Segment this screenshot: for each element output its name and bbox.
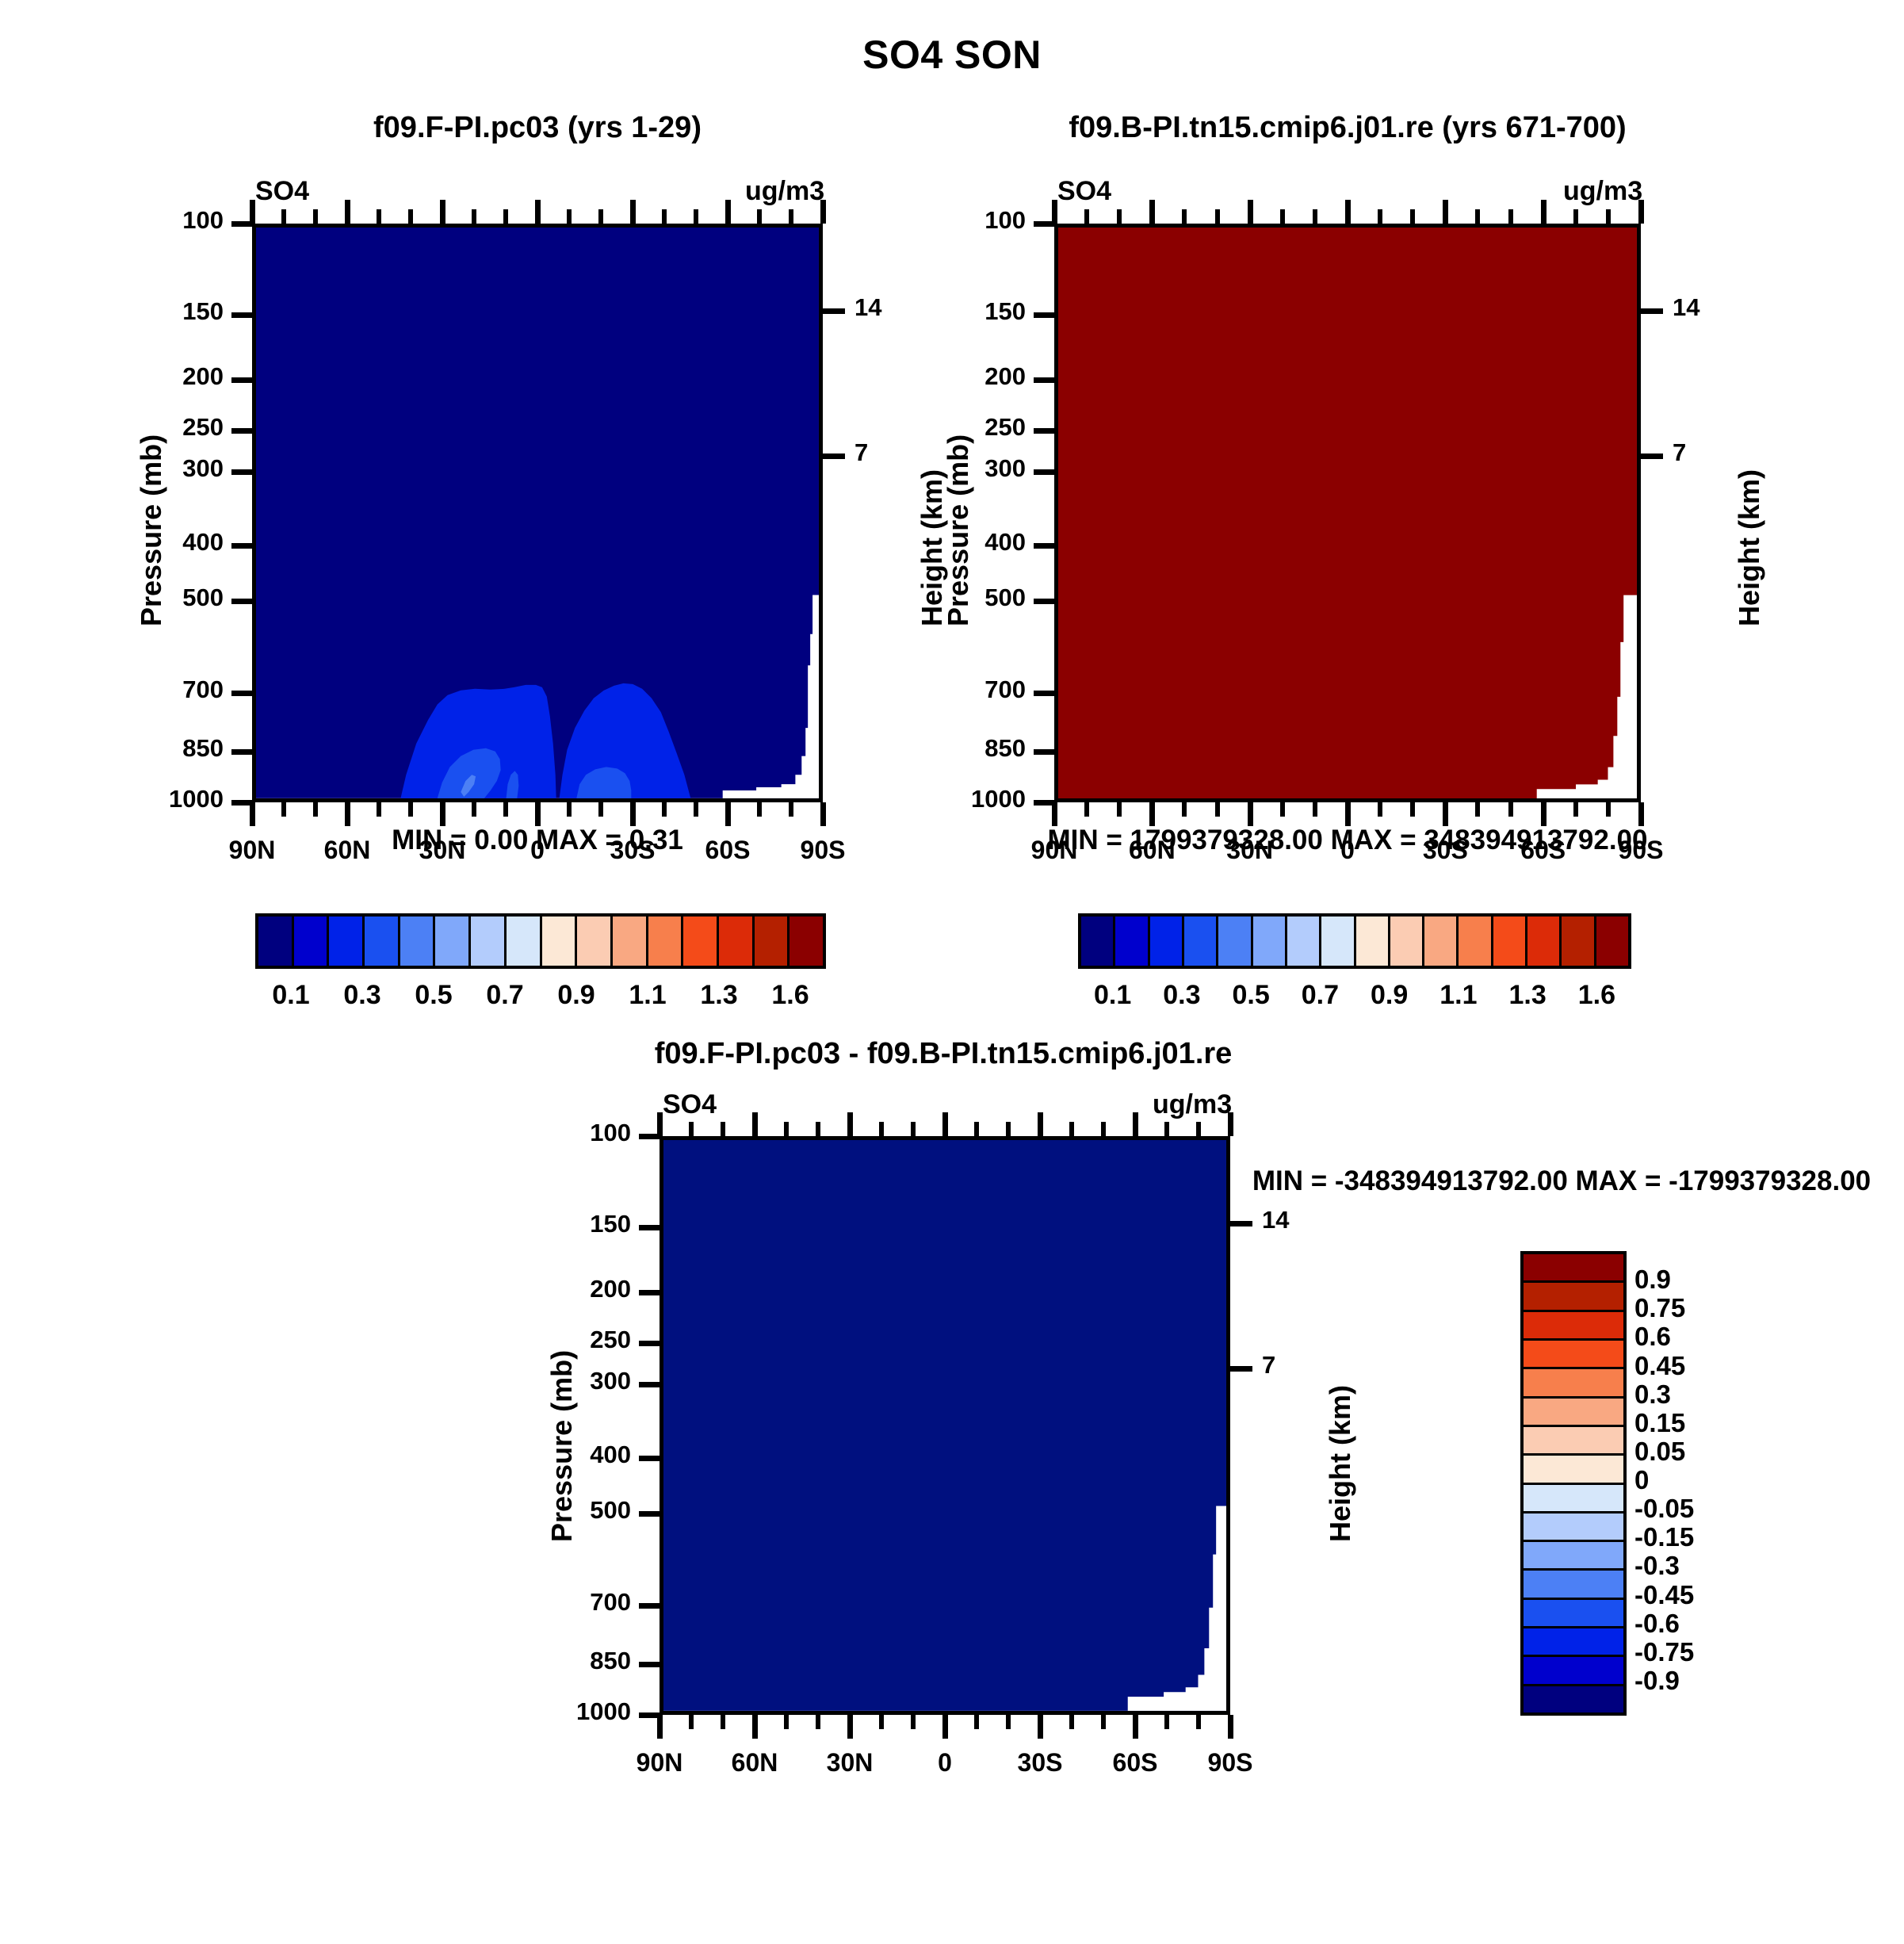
colorbar-tick-label: 0.5 [1232, 980, 1269, 1011]
y-axis-tick-label: 700 [891, 675, 1026, 704]
axis-tick-mark [1034, 543, 1056, 549]
axis-tick-mark [1149, 802, 1155, 826]
axis-tick-mark [1196, 1715, 1201, 1729]
axis-tick-mark [942, 1112, 948, 1136]
axis-tick-mark [816, 1715, 820, 1729]
axis-tick-mark [1084, 209, 1089, 224]
colorbar-swatch [507, 917, 542, 966]
page-title: SO4 SON [0, 32, 1904, 78]
axis-tick-mark [911, 1122, 916, 1136]
axis-tick-mark [535, 200, 541, 224]
y2-axis-tick-label: 7 [1673, 438, 1768, 467]
axis-tick-mark [1034, 428, 1056, 434]
panel-title-top-right: f09.B-PI.tn15.cmip6.j01.re (yrs 671-700) [1023, 111, 1673, 145]
colorbar-swatch [1524, 1427, 1623, 1456]
axis-tick-mark [377, 209, 381, 224]
colorbar-tick-label: 0.9 [1371, 980, 1408, 1011]
y-axis-tick-label: 850 [891, 734, 1026, 763]
axis-tick-mark [408, 802, 413, 817]
y-axis-tick-label: 850 [89, 734, 224, 763]
axis-tick-mark [639, 1511, 661, 1517]
colorbar-swatch [613, 917, 648, 966]
axis-tick-mark [231, 800, 254, 806]
colorbar-tick-label: -0.75 [1634, 1637, 1694, 1667]
axis-tick-mark [567, 209, 572, 224]
colorbar-tick-label: 0.15 [1634, 1408, 1685, 1438]
x-axis-tick-label: 60S [1048, 1748, 1222, 1778]
colorbar-swatch [1524, 1686, 1623, 1712]
colorbar-tick-label: 1.3 [1508, 980, 1546, 1011]
colorbar-tick-label: 0.3 [1163, 980, 1200, 1011]
colorbar-tick-label: -0.9 [1634, 1666, 1680, 1696]
colorbar-swatch [719, 917, 755, 966]
panel-title-top-left: f09.F-PI.pc03 (yrs 1-29) [252, 111, 823, 145]
axis-tick-mark [1006, 1715, 1011, 1729]
axis-tick-mark [1345, 200, 1351, 224]
colorbar-swatch [648, 917, 684, 966]
axis-tick-mark [725, 200, 731, 224]
axis-tick-mark [820, 802, 826, 826]
axis-tick-mark [721, 1122, 725, 1136]
colorbar-swatch [1524, 1657, 1623, 1686]
axis-tick-mark [789, 802, 793, 817]
axis-tick-mark [231, 312, 254, 318]
axis-tick-mark [725, 802, 731, 826]
axis-tick-mark [1164, 1122, 1169, 1136]
axis-tick-mark [345, 802, 350, 826]
axis-tick-mark [789, 209, 793, 224]
axis-tick-mark [1248, 200, 1253, 224]
colorbar-tick-label: 0.75 [1634, 1293, 1685, 1323]
colorbar-tick-label: 0.9 [557, 980, 595, 1011]
plot-area-top-right[interactable] [1054, 224, 1641, 802]
axis-tick-mark [231, 543, 254, 549]
axis-tick-mark [1196, 1122, 1201, 1136]
axis-tick-mark [503, 209, 508, 224]
axis-tick-mark [757, 209, 762, 224]
axis-tick-mark [974, 1715, 979, 1729]
axis-tick-mark [1034, 469, 1056, 475]
colorbar-swatch [1562, 917, 1596, 966]
y-axis-tick-label: 150 [891, 297, 1026, 326]
colorbar-tick-label: 0.3 [1634, 1380, 1671, 1410]
colorbar-swatch [1524, 1283, 1623, 1311]
axis-tick-mark [639, 1712, 661, 1718]
colorbar-swatch [542, 917, 578, 966]
axis-tick-mark [639, 1456, 661, 1461]
axis-tick-mark [689, 1122, 694, 1136]
colorbar-tick-label: 0.9 [1634, 1265, 1671, 1295]
axis-tick-mark [1378, 209, 1382, 224]
axis-tick-mark [250, 200, 255, 224]
axis-tick-mark [1541, 802, 1547, 826]
axis-tick-mark [757, 802, 762, 817]
axis-tick-mark [313, 802, 318, 817]
colorbar-swatch [1356, 917, 1390, 966]
axis-tick-mark [1038, 1112, 1043, 1136]
colorbar-swatch [1524, 1628, 1623, 1657]
axis-tick-mark [1149, 200, 1155, 224]
axis-tick-mark [942, 1715, 948, 1739]
axis-tick-mark [1182, 802, 1187, 817]
axis-tick-mark [1508, 802, 1513, 817]
y2-axis-tick-label: 7 [855, 438, 950, 467]
colorbar-swatch [435, 917, 471, 966]
colorbar-swatch [755, 917, 790, 966]
minmax-top-left: MIN = 0.00 MAX = 0.31 [252, 825, 823, 856]
y-axis-tick-label: 700 [89, 675, 224, 704]
colorbar-swatch [1493, 917, 1527, 966]
axis-tick-mark [657, 1112, 663, 1136]
axis-tick-mark [408, 209, 413, 224]
axis-tick-mark [1230, 1221, 1252, 1226]
colorbar-swatch [1524, 1399, 1623, 1427]
minmax-top-right: MIN = 1799379328.00 MAX = 348394913792.0… [1023, 825, 1673, 856]
axis-tick-mark [345, 200, 350, 224]
axis-tick-mark [1313, 802, 1317, 817]
axis-tick-mark [1034, 377, 1056, 383]
x-axis-tick-label: 60N [667, 1748, 842, 1778]
colorbar-swatch [1524, 1600, 1623, 1628]
axis-tick-mark [231, 428, 254, 434]
axis-tick-mark [694, 802, 698, 817]
axis-tick-mark [752, 1715, 758, 1739]
colorbar-swatch [258, 917, 294, 966]
colorbar-swatch [1524, 1254, 1623, 1283]
contour-field-top-right [1058, 228, 1637, 798]
axis-tick-mark [639, 1662, 661, 1667]
y2-axis-title-top-right: Height (km) [1733, 469, 1766, 626]
axis-tick-mark [1638, 802, 1644, 826]
colorbar-tick-label: -0.05 [1634, 1494, 1694, 1524]
axis-tick-mark [847, 1715, 853, 1739]
y-axis-title-top-left: Pressure (mb) [135, 434, 168, 626]
axis-tick-mark [1117, 802, 1122, 817]
var-label-top-left: SO4 [255, 176, 309, 207]
colorbar-tick-label: 0.7 [486, 980, 523, 1011]
colorbar-swatch [1596, 917, 1628, 966]
axis-tick-mark [1034, 749, 1056, 755]
colorbar-swatch [1424, 917, 1459, 966]
axis-tick-mark [1475, 209, 1480, 224]
axis-tick-mark [657, 1715, 663, 1739]
colorbar-swatch [1459, 917, 1493, 966]
unit-label-top-left: ug/m3 [745, 176, 824, 207]
axis-tick-mark [231, 749, 254, 755]
axis-tick-mark [1117, 209, 1122, 224]
axis-tick-mark [281, 209, 286, 224]
axis-tick-mark [1101, 1715, 1106, 1729]
axis-tick-mark [1228, 1715, 1233, 1739]
y2-axis-tick-label: 7 [1262, 1351, 1357, 1380]
axis-tick-mark [1573, 802, 1578, 817]
colorbar-tick-label: 1.1 [629, 980, 666, 1011]
colorbar-tick-label: 1.6 [771, 980, 809, 1011]
colorbar-tick-label: 0.3 [343, 980, 380, 1011]
axis-tick-mark [1034, 599, 1056, 604]
y-axis-tick-label: 200 [496, 1275, 631, 1303]
axis-tick-mark [598, 802, 603, 817]
axis-tick-mark [784, 1122, 789, 1136]
axis-tick-mark [1069, 1122, 1074, 1136]
colorbar-tick-label: 0.5 [415, 980, 452, 1011]
axis-tick-mark [1475, 802, 1480, 817]
axis-tick-mark [1443, 200, 1448, 224]
colorbar-swatch [1524, 1485, 1623, 1513]
colorbar-tick-label: 0.05 [1634, 1437, 1685, 1467]
axis-tick-mark [1573, 209, 1578, 224]
axis-tick-mark [639, 1290, 661, 1295]
plot-area-top-left[interactable] [252, 224, 823, 802]
colorbar-swatch [1524, 1312, 1623, 1341]
axis-tick-mark [1034, 312, 1056, 318]
axis-tick-mark [974, 1122, 979, 1136]
axis-tick-mark [879, 1715, 884, 1729]
colorbar-climo-left[interactable] [255, 913, 826, 969]
colorbar-tick-label: 1.6 [1578, 980, 1615, 1011]
colorbar-climo-left-labels: 0.10.30.50.70.91.11.31.6 [255, 980, 820, 1015]
x-axis-tick-label: 90S [1143, 1748, 1317, 1778]
axis-tick-mark [630, 200, 636, 224]
colorbar-tick-label: -0.6 [1634, 1609, 1680, 1639]
colorbar-tick-label: 0.45 [1634, 1351, 1685, 1381]
x-axis-tick-label: 90N [572, 1748, 747, 1778]
colorbar-climo-right-labels: 0.10.30.50.70.91.11.31.6 [1078, 980, 1625, 1015]
colorbar-swatch [1524, 1542, 1623, 1571]
axis-tick-mark [1410, 209, 1415, 224]
axis-tick-mark [1034, 691, 1056, 696]
axis-tick-mark [1052, 200, 1057, 224]
axis-tick-mark [1084, 802, 1089, 817]
axis-tick-mark [784, 1715, 789, 1729]
axis-tick-mark [911, 1715, 916, 1729]
y-axis-tick-label: 850 [496, 1647, 631, 1675]
colorbar-swatch [400, 917, 436, 966]
axis-tick-mark [639, 1134, 661, 1139]
axis-tick-mark [250, 802, 255, 826]
colorbar-tick-label: 0.7 [1302, 980, 1339, 1011]
axis-tick-mark [1641, 308, 1663, 314]
colorbar-swatch [1527, 917, 1562, 966]
y-axis-tick-label: 1000 [496, 1697, 631, 1726]
axis-tick-mark [281, 802, 286, 817]
colorbar-tick-label: 0 [1634, 1465, 1649, 1495]
colorbar-swatch [1287, 917, 1321, 966]
y-axis-tick-label: 1000 [891, 785, 1026, 813]
axis-tick-mark [231, 691, 254, 696]
axis-tick-mark [1038, 1715, 1043, 1739]
axis-tick-mark [472, 802, 476, 817]
axis-tick-mark [1443, 802, 1448, 826]
colorbar-swatch [683, 917, 719, 966]
colorbar-swatch [1218, 917, 1252, 966]
contour-field-bottom-diff [663, 1140, 1226, 1711]
axis-tick-mark [662, 802, 667, 817]
axis-tick-mark [231, 221, 254, 227]
axis-tick-mark [503, 802, 508, 817]
y-axis-tick-label: 100 [496, 1119, 631, 1147]
colorbar-swatch [329, 917, 365, 966]
axis-tick-mark [1034, 221, 1056, 227]
axis-tick-mark [440, 802, 445, 826]
axis-tick-mark [847, 1112, 853, 1136]
colorbar-swatch [294, 917, 330, 966]
axis-tick-mark [689, 1715, 694, 1729]
contour-field-top-left [256, 228, 819, 798]
axis-tick-mark [1378, 802, 1382, 817]
y-axis-tick-label: 200 [89, 362, 224, 391]
axis-tick-mark [377, 802, 381, 817]
colorbar-swatch [577, 917, 613, 966]
minmax-bottom-diff: MIN = -348394913792.00 MAX = -1799379328… [1221, 1165, 1902, 1197]
colorbar-swatch [1081, 917, 1115, 966]
y2-axis-tick-label: 14 [1673, 293, 1768, 322]
var-label-top-right: SO4 [1057, 176, 1111, 207]
y2-axis-title-bottom-diff: Height (km) [1324, 1385, 1357, 1542]
colorbar-climo-right[interactable] [1078, 913, 1631, 969]
axis-tick-mark [662, 209, 667, 224]
colorbar-tick-label: 0.6 [1634, 1322, 1671, 1352]
colorbar-tick-label: 0.1 [272, 980, 309, 1011]
axis-tick-mark [630, 802, 636, 826]
axis-tick-mark [231, 377, 254, 383]
y-axis-tick-label: 1000 [89, 785, 224, 813]
axis-tick-mark [1345, 802, 1351, 826]
axis-tick-mark [1508, 209, 1513, 224]
axis-tick-mark [598, 209, 603, 224]
y-axis-tick-label: 700 [496, 1588, 631, 1617]
axis-tick-mark [639, 1382, 661, 1387]
x-axis-tick-label: 0 [858, 1748, 1032, 1778]
y-axis-title-bottom-diff: Pressure (mb) [545, 1350, 579, 1542]
var-label-bottom-diff: SO4 [663, 1089, 717, 1120]
colorbar-swatch [1524, 1369, 1623, 1398]
axis-tick-mark [1133, 1715, 1138, 1739]
colorbar-tick-label: 0.1 [1094, 980, 1131, 1011]
y-axis-tick-label: 100 [89, 206, 224, 235]
axis-tick-mark [1248, 802, 1253, 826]
axis-tick-mark [1280, 802, 1285, 817]
colorbar-diff-labels: 0.90.750.60.450.30.150.050-0.05-0.15-0.3… [1634, 1251, 1793, 1709]
axis-tick-mark [823, 453, 845, 459]
axis-tick-mark [1230, 1366, 1252, 1372]
axis-tick-mark [231, 469, 254, 475]
axis-tick-mark [639, 1603, 661, 1609]
axis-tick-mark [694, 209, 698, 224]
axis-tick-mark [1606, 802, 1611, 817]
colorbar-swatch [790, 917, 823, 966]
colorbar-diff[interactable] [1520, 1251, 1627, 1716]
colorbar-tick-label: 1.1 [1439, 980, 1477, 1011]
colorbar-tick-label: -0.3 [1634, 1551, 1680, 1581]
colorbar-swatch [1524, 1341, 1623, 1369]
axis-tick-mark [1101, 1122, 1106, 1136]
x-axis-tick-label: 30S [953, 1748, 1127, 1778]
colorbar-swatch [1390, 917, 1424, 966]
axis-tick-mark [313, 209, 318, 224]
axis-tick-mark [1006, 1122, 1011, 1136]
y2-axis-tick-label: 14 [855, 293, 950, 322]
colorbar-swatch [1150, 917, 1184, 966]
axis-tick-mark [1641, 453, 1663, 459]
axis-tick-mark [1034, 800, 1056, 806]
colorbar-swatch [1524, 1456, 1623, 1484]
colorbar-tick-label: -0.15 [1634, 1522, 1694, 1552]
y-axis-tick-label: 150 [89, 297, 224, 326]
axis-tick-mark [1541, 200, 1547, 224]
y-axis-tick-label: 100 [891, 206, 1026, 235]
axis-tick-mark [1164, 1715, 1169, 1729]
axis-tick-mark [1606, 209, 1611, 224]
axis-tick-mark [472, 209, 476, 224]
colorbar-swatch [1524, 1513, 1623, 1542]
axis-tick-mark [721, 1715, 725, 1729]
unit-label-bottom-diff: ug/m3 [1153, 1089, 1232, 1120]
axis-tick-mark [752, 1112, 758, 1136]
y-axis-tick-label: 150 [496, 1210, 631, 1238]
axis-tick-mark [1069, 1715, 1074, 1729]
x-axis-tick-label: 30N [763, 1748, 937, 1778]
axis-tick-mark [1410, 802, 1415, 817]
axis-tick-mark [639, 1225, 661, 1230]
colorbar-swatch [471, 917, 507, 966]
colorbar-swatch [1184, 917, 1218, 966]
axis-tick-mark [231, 599, 254, 604]
axis-tick-mark [823, 308, 845, 314]
y-axis-title-top-right: Pressure (mb) [942, 434, 975, 626]
plot-area-bottom-diff[interactable] [660, 1136, 1230, 1715]
y2-axis-tick-label: 14 [1262, 1206, 1357, 1234]
axis-tick-mark [440, 200, 445, 224]
panel-title-bottom-diff: f09.F-PI.pc03 - f09.B-PI.tn15.cmip6.j01.… [626, 1037, 1260, 1071]
axis-tick-mark [879, 1122, 884, 1136]
colorbar-tick-label: 1.3 [700, 980, 737, 1011]
axis-tick-mark [1133, 1112, 1138, 1136]
colorbar-swatch [1115, 917, 1149, 966]
y-axis-tick-label: 200 [891, 362, 1026, 391]
colorbar-swatch [365, 917, 400, 966]
axis-tick-mark [1182, 209, 1187, 224]
axis-tick-mark [1215, 802, 1220, 817]
axis-tick-mark [1052, 802, 1057, 826]
axis-tick-mark [567, 802, 572, 817]
axis-tick-mark [639, 1341, 661, 1346]
axis-tick-mark [1313, 209, 1317, 224]
axis-tick-mark [535, 802, 541, 826]
colorbar-swatch [1321, 917, 1355, 966]
axis-tick-mark [816, 1122, 820, 1136]
unit-label-top-right: ug/m3 [1563, 176, 1642, 207]
colorbar-tick-label: -0.45 [1634, 1580, 1694, 1610]
axis-tick-mark [1215, 209, 1220, 224]
axis-tick-mark [1280, 209, 1285, 224]
colorbar-swatch [1253, 917, 1287, 966]
colorbar-swatch [1524, 1571, 1623, 1599]
